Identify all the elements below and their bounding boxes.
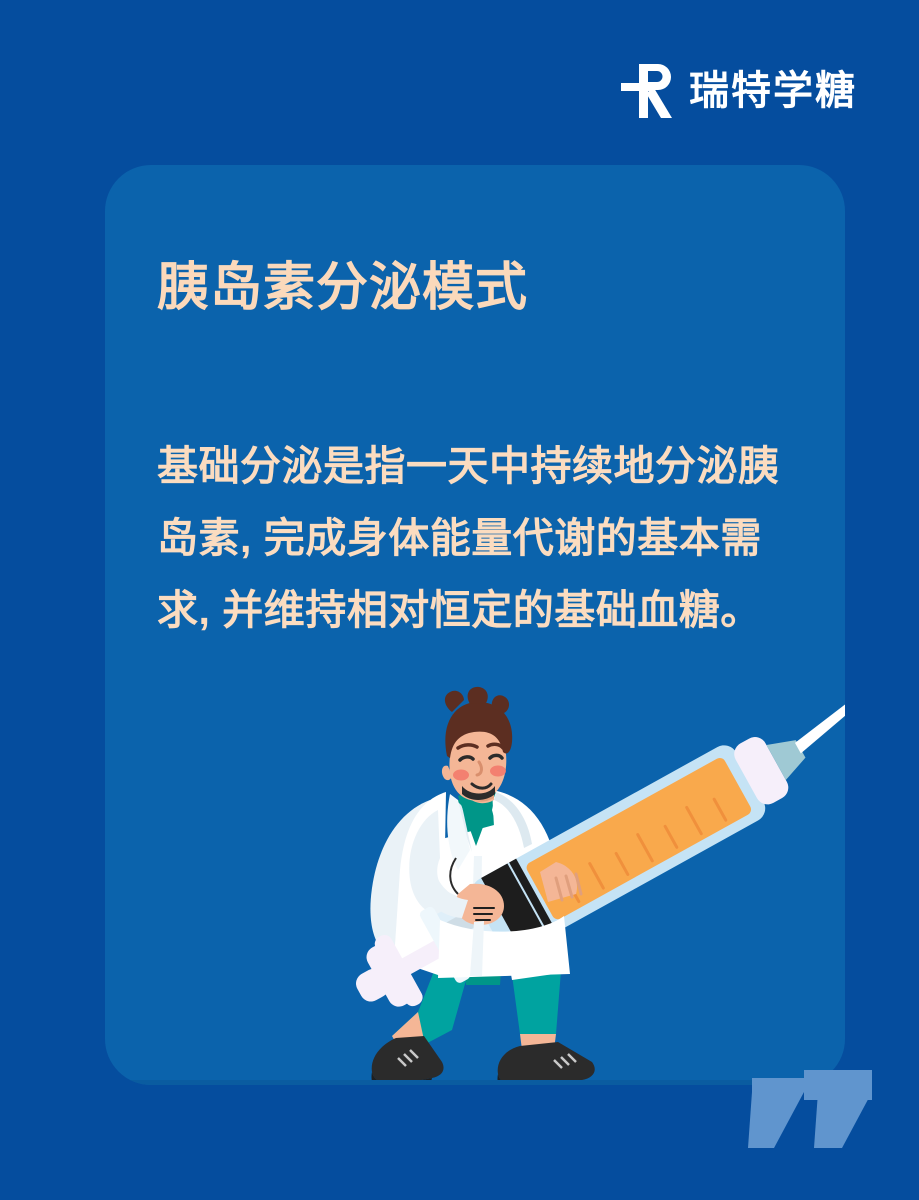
brand-lockup: 瑞特学糖: [621, 62, 857, 120]
closing-quote-icon: [748, 1070, 883, 1152]
content-card: 胰岛素分泌模式 基础分泌是指一天中持续地分泌胰岛素, 完成身体能量代谢的基本需求…: [105, 165, 845, 1085]
rt-monogram-icon: [621, 62, 673, 120]
brand-name: 瑞特学糖: [689, 71, 857, 111]
body-paragraph: 基础分泌是指一天中持续地分泌胰岛素, 完成身体能量代谢的基本需求, 并维持相对恒…: [157, 430, 812, 646]
poster-canvas: 瑞特学糖 胰岛素分泌模式 基础分泌是指一天中持续地分泌胰岛素, 完成身体能量代谢…: [0, 0, 919, 1200]
page-title: 胰岛素分泌模式: [157, 260, 528, 317]
